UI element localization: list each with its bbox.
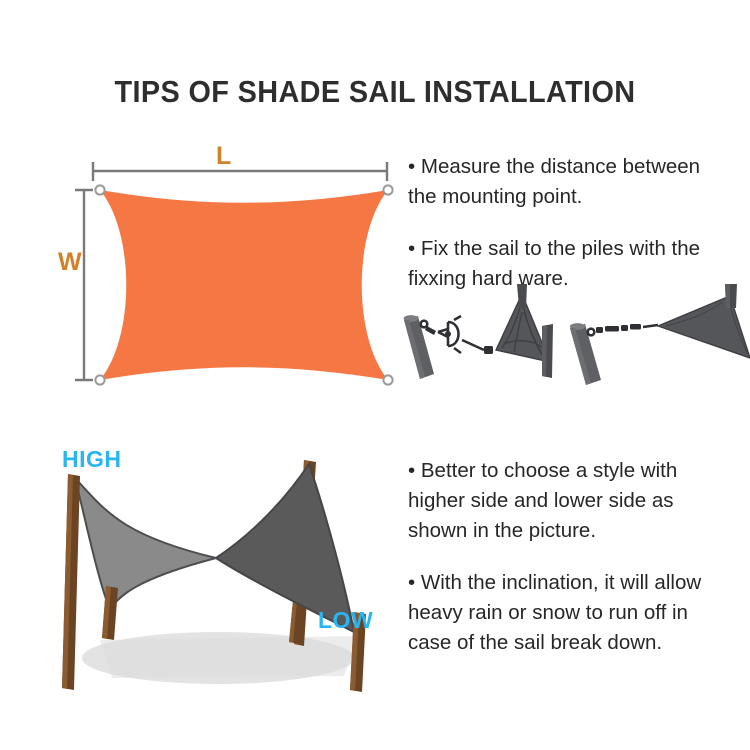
inclined-sails-diagram <box>28 440 418 702</box>
hardware-assembly-left <box>404 284 553 379</box>
inclined-sails-svg <box>28 440 418 702</box>
bullet-measure-line-2: the mounting point. <box>408 182 750 212</box>
bullet-choose-style-line-1: • Better to choose a style with <box>408 456 750 486</box>
sail-body <box>100 190 388 380</box>
bullet-choose-style: • Better to choose a style with higher s… <box>408 456 750 546</box>
bullet-fix-sail-line-1: • Fix the sail to the piles with the <box>408 234 750 264</box>
pole-left <box>404 315 434 379</box>
top-bullet-text: • Measure the distance between the mount… <box>408 152 750 292</box>
cable-clamp-left <box>484 346 493 354</box>
bullet-inclination-line-2: heavy rain or snow to run off in <box>408 598 750 628</box>
length-label: L <box>216 142 232 171</box>
bullet-inclination-line-3: case of the sail break down. <box>408 628 750 656</box>
rectangular-sail-diagram: L W <box>60 138 405 400</box>
sail-corner-right <box>658 284 750 358</box>
bullet-inclination: • With the inclination, it will allow he… <box>408 568 750 656</box>
turnbuckle-right <box>596 324 641 333</box>
infographic-canvas: TIPS OF SHADE SAIL INSTALLATION <box>0 0 750 750</box>
sail-light <box>75 478 216 610</box>
bullet-inclination-line-1: • With the inclination, it will allow <box>408 568 750 598</box>
bullet-measure-line-1: • Measure the distance between <box>408 152 750 182</box>
hardware-assembly-right <box>570 284 750 385</box>
width-label: W <box>58 248 82 277</box>
shackle-right <box>586 327 595 336</box>
width-dimension-line <box>75 190 93 380</box>
sail-corner-left <box>496 284 553 378</box>
bullet-choose-style-line-2: higher side and lower side as <box>408 486 750 516</box>
length-dimension-line <box>93 162 387 181</box>
high-side-label: HIGH <box>62 446 122 473</box>
bullet-choose-style-line-3: shown in the picture. <box>408 516 750 546</box>
pole-high-left <box>62 474 80 690</box>
hardware-svg <box>400 282 750 390</box>
bullet-measure: • Measure the distance between the mount… <box>408 152 750 212</box>
tension-cable-left <box>462 340 484 350</box>
bottom-bullet-text: • Better to choose a style with higher s… <box>408 456 750 656</box>
turnbuckle-left-pin <box>445 331 451 337</box>
fixing-hardware-illustrations <box>400 282 750 390</box>
page-title: TIPS OF SHADE SAIL INSTALLATION <box>26 74 724 110</box>
low-side-label: LOW <box>318 607 373 634</box>
ground-shadow-patch <box>100 636 358 678</box>
rectangular-sail-svg <box>60 138 405 400</box>
tension-cable-right <box>643 325 658 327</box>
